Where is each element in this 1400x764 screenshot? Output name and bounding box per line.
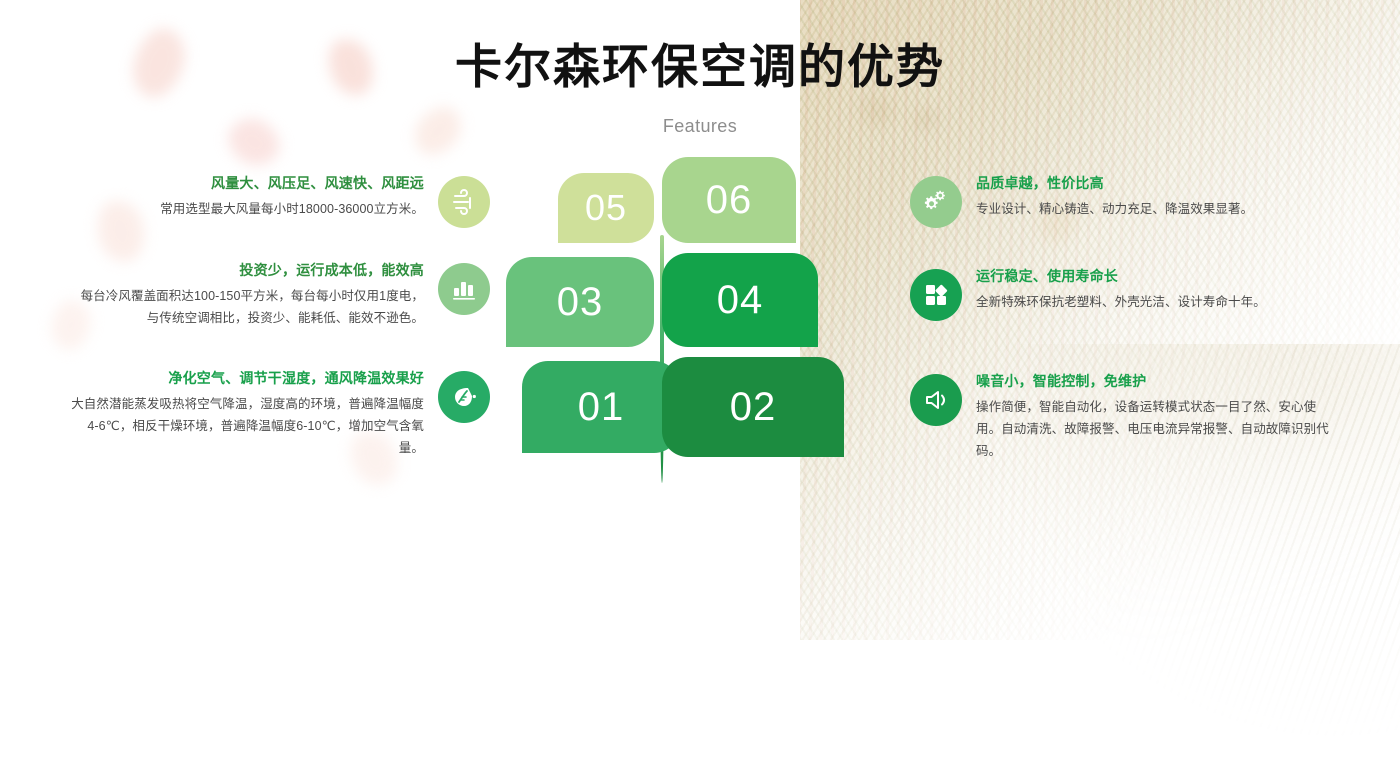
feature-description: 全新特殊环保抗老塑料、外壳光洁、设计寿命十年。 [976, 292, 1330, 314]
features-section: 风量大、风压足、风速快、风距远 常用选型最大风量每小时18000-36000立方… [0, 159, 1400, 559]
leaf-number: 04 [717, 278, 764, 323]
leaf-badge-04[interactable]: 04 [662, 253, 818, 347]
page-header: 卡尔森环保空调的优势 Features [0, 0, 1400, 137]
leaf-badge-06[interactable]: 06 [662, 157, 796, 243]
feature-text: 净化空气、调节干湿度，通风降温效果好 大自然潜能蒸发吸热将空气降温，湿度高的环境… [70, 368, 424, 460]
clover-graphic: 05 06 03 04 01 02 [490, 159, 910, 559]
feature-title: 噪音小，智能控制，免维护 [976, 371, 1330, 392]
feature-description: 常用选型最大风量每小时18000-36000立方米。 [70, 199, 424, 221]
feature-text: 风量大、风压足、风速快、风距远 常用选型最大风量每小时18000-36000立方… [70, 173, 424, 221]
feature-text: 投资少，运行成本低，能效高 每台冷风覆盖面积达100-150平方米，每台每小时仅… [70, 260, 424, 330]
leaf-number: 06 [706, 178, 753, 223]
leaf-number: 05 [585, 187, 627, 229]
page-title: 卡尔森环保空调的优势 [0, 40, 1400, 94]
feature-item-air-quality[interactable]: 净化空气、调节干湿度，通风降温效果好 大自然潜能蒸发吸热将空气降温，湿度高的环境… [70, 368, 490, 460]
feature-title: 运行稳定、使用寿命长 [976, 266, 1330, 287]
page-subtitle: Features [0, 116, 1400, 137]
features-right-column: 品质卓越，性价比高 专业设计、精心铸造、动力充足、降温效果显著。 运行稳定、使用… [910, 159, 1330, 463]
feature-text: 噪音小，智能控制，免维护 操作简便，智能自动化，设备运转模式状态一目了然、安心使… [976, 371, 1330, 463]
leaf-number: 02 [730, 385, 777, 430]
leaf-cluster: 05 06 03 04 01 02 [480, 149, 920, 549]
feature-title: 净化空气、调节干湿度，通风降温效果好 [70, 368, 424, 389]
feature-item-noise[interactable]: 噪音小，智能控制，免维护 操作简便，智能自动化，设备运转模式状态一目了然、安心使… [910, 371, 1330, 463]
leaf-badge-03[interactable]: 03 [506, 257, 654, 347]
feature-description: 大自然潜能蒸发吸热将空气降温，湿度高的环境，普遍降温幅度4-6℃，相反干燥环境，… [70, 394, 424, 460]
feature-title: 投资少，运行成本低，能效高 [70, 260, 424, 281]
leaf-badge-01[interactable]: 01 [522, 361, 680, 453]
feature-description: 操作简便，智能自动化，设备运转模式状态一目了然、安心使用。自动清洗、故障报警、电… [976, 397, 1330, 463]
feature-item-reliability[interactable]: 运行稳定、使用寿命长 全新特殊环保抗老塑料、外壳光洁、设计寿命十年。 [910, 266, 1330, 321]
leaf-badge-05[interactable]: 05 [558, 173, 654, 243]
leaf-number: 03 [557, 280, 604, 325]
feature-item-cost[interactable]: 投资少，运行成本低，能效高 每台冷风覆盖面积达100-150平方米，每台每小时仅… [70, 260, 490, 330]
feature-description: 每台冷风覆盖面积达100-150平方米，每台每小时仅用1度电，与传统空调相比，投… [70, 286, 424, 330]
feature-item-quality[interactable]: 品质卓越，性价比高 专业设计、精心铸造、动力充足、降温效果显著。 [910, 173, 1330, 228]
feature-text: 品质卓越，性价比高 专业设计、精心铸造、动力充足、降温效果显著。 [976, 173, 1330, 221]
feature-title: 品质卓越，性价比高 [976, 173, 1330, 194]
feature-item-airflow[interactable]: 风量大、风压足、风速快、风距远 常用选型最大风量每小时18000-36000立方… [70, 173, 490, 228]
feature-title: 风量大、风压足、风速快、风距远 [70, 173, 424, 194]
leaf-badge-02[interactable]: 02 [662, 357, 844, 457]
features-left-column: 风量大、风压足、风速快、风距远 常用选型最大风量每小时18000-36000立方… [70, 159, 490, 459]
feature-description: 专业设计、精心铸造、动力充足、降温效果显著。 [976, 199, 1330, 221]
leaf-number: 01 [578, 385, 625, 430]
feature-text: 运行稳定、使用寿命长 全新特殊环保抗老塑料、外壳光洁、设计寿命十年。 [976, 266, 1330, 314]
